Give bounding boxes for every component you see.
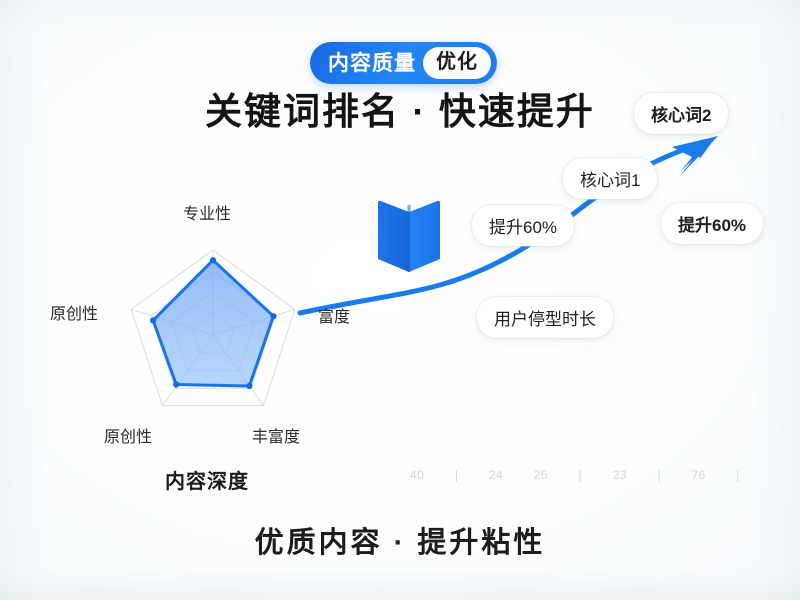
- slide-canvas: 专业性 富度 丰富度 原创性 原创性 内容深度: [0, 0, 800, 600]
- book-icon: [0, 0, 800, 600]
